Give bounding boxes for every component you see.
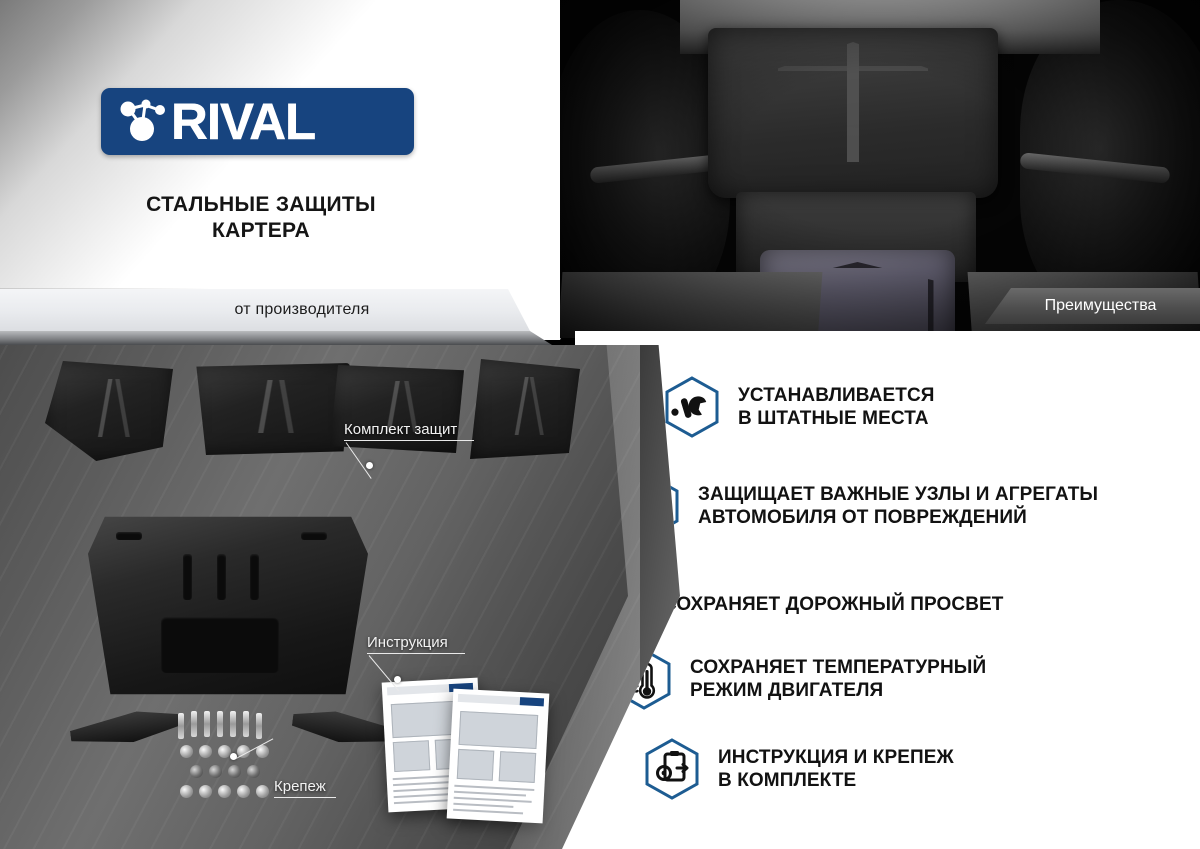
callout-kit-underline	[344, 440, 474, 441]
page-title: СТАЛЬНЫЕ ЗАЩИТЫ КАРТЕРА	[101, 192, 421, 244]
advantage-item-2[interactable]: ЗАЩИЩАЕТ ВАЖНЫЕ УЗЛЫ И АГРЕГАТЫ АВТОМОБИ…	[624, 475, 1098, 537]
callout-instruction: Инструкция	[367, 634, 465, 654]
callout-fasteners: Крепеж	[274, 778, 336, 798]
advantage-text-2: ЗАЩИЩАЕТ ВАЖНЫЕ УЗЛЫ И АГРЕГАТЫ АВТОМОБИ…	[698, 483, 1098, 529]
advantage-5-line1: ИНСТРУКЦИЯ И КРЕПЕЖ	[718, 746, 954, 769]
advantage-3-line1: СОХРАНЯЕТ ДОРОЖНЫЙ ПРОСВЕТ	[663, 593, 1004, 616]
advantage-4-line1: СОХРАНЯЕТ ТЕМПЕРАТУРНЫЙ	[690, 656, 986, 679]
callout-kit: Комплект защит	[344, 421, 474, 441]
advantage-4-line2: РЕЖИМ ДВИГАТЕЛЯ	[690, 679, 986, 702]
subtitle-bar: от производителя	[0, 289, 560, 331]
advantage-text-4: СОХРАНЯЕТ ТЕМПЕРАТУРНЫЙ РЕЖИМ ДВИГАТЕЛЯ	[690, 656, 986, 702]
callout-kit-dot	[366, 462, 373, 469]
advantage-text-3: СОХРАНЯЕТ ДОРОЖНЫЙ ПРОСВЕТ	[663, 593, 1004, 616]
advantage-1-line1: УСТАНАВЛИВАЕТСЯ	[738, 384, 935, 407]
brand-logo: RIVAL	[101, 88, 414, 155]
callout-kit-label: Комплект защит	[344, 421, 474, 438]
poster-root: RIVAL СТАЛЬНЫЕ ЗАЩИТЫ КАРТЕРА от произво…	[0, 0, 1200, 849]
callout-instruction-dot	[394, 676, 401, 683]
wrench-icon	[664, 376, 720, 438]
subtitle-bar-shadow	[0, 331, 575, 345]
advantage-1-line2: В ШТАТНЫЕ МЕСТА	[738, 407, 935, 430]
advantage-text-5: ИНСТРУКЦИЯ И КРЕПЕЖ В КОМПЛЕКТЕ	[718, 746, 954, 792]
molecule-icon	[115, 97, 173, 147]
vehicle-underbody-photo	[560, 0, 1200, 338]
callout-instruction-label: Инструкция	[367, 634, 465, 651]
page-title-line1: СТАЛЬНЫЕ ЗАЩИТЫ	[101, 192, 421, 218]
tab-advantages[interactable]: Преимущества	[985, 288, 1200, 324]
advantage-5-line2: В КОМПЛЕКТЕ	[718, 769, 954, 792]
advantage-item-4[interactable]: СОХРАНЯЕТ ТЕМПЕРАТУРНЫЙ РЕЖИМ ДВИГАТЕЛЯ	[616, 648, 986, 710]
subtitle-text: от производителя	[235, 301, 370, 319]
advantage-item-5[interactable]: ИНСТРУКЦИЯ И КРЕПЕЖ В КОМПЛЕКТЕ	[644, 738, 954, 800]
brand-name: RIVAL	[171, 92, 315, 152]
callout-instruction-underline	[367, 653, 465, 654]
product-kit-photo	[0, 345, 640, 849]
advantage-text-1: УСТАНАВЛИВАЕТСЯ В ШТАТНЫЕ МЕСТА	[738, 384, 935, 430]
skid-plate-4	[470, 359, 580, 459]
clipboard-bolt-icon	[644, 738, 700, 800]
skid-plate-2	[190, 363, 350, 455]
main-engine-skid-plate	[88, 513, 368, 698]
callout-fasteners-dot	[230, 753, 237, 760]
advantage-2-line1: ЗАЩИЩАЕТ ВАЖНЫЕ УЗЛЫ И АГРЕГАТЫ	[698, 483, 1098, 506]
page-title-line2: КАРТЕРА	[101, 218, 421, 244]
callout-fasteners-label: Крепеж	[274, 778, 336, 795]
advantage-item-1[interactable]: УСТАНАВЛИВАЕТСЯ В ШТАТНЫЕ МЕСТА	[664, 376, 935, 438]
callout-fasteners-underline	[274, 797, 336, 798]
photo-separator	[575, 331, 1200, 345]
tab-advantages-label: Преимущества	[1045, 297, 1157, 315]
advantage-2-line2: АВТОМОБИЛЯ ОТ ПОВРЕЖДЕНИЙ	[698, 506, 1098, 529]
photo-vignette	[560, 0, 1200, 338]
